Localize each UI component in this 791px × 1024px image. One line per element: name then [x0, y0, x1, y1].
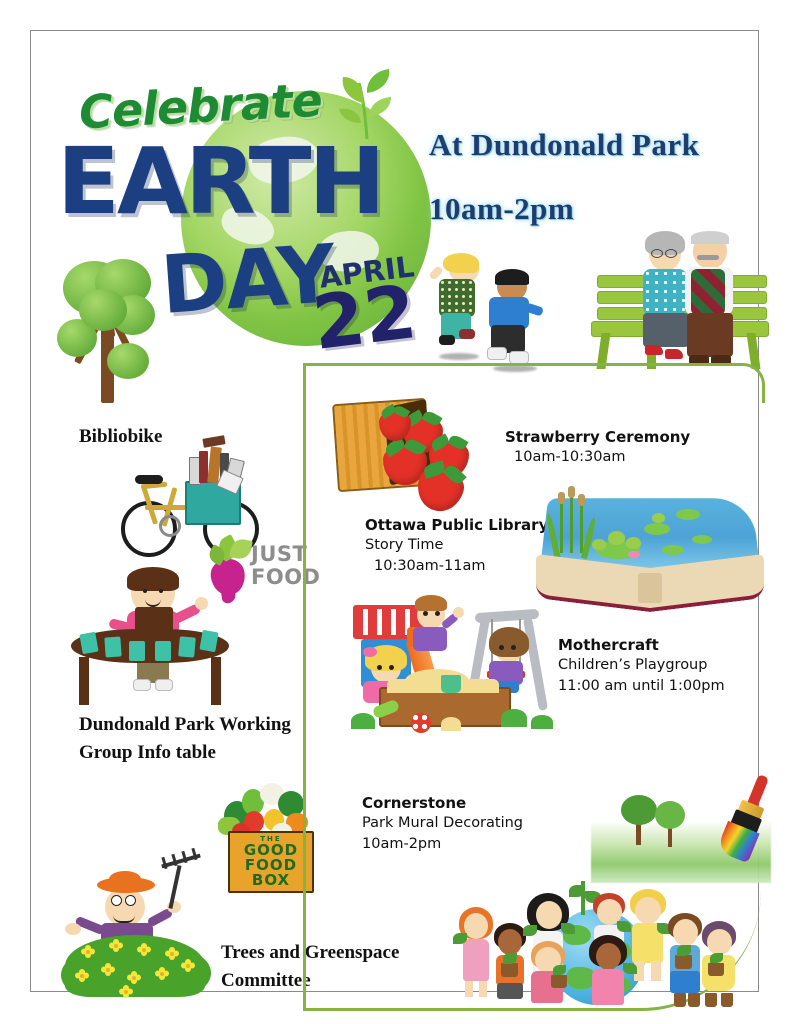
playground-illustration	[349, 591, 564, 743]
event-title: Cornerstone	[362, 793, 523, 813]
working-group-label: Dundonald Park Working Group Info table	[79, 711, 309, 767]
event-detail: Children’s Playgroup	[558, 655, 725, 676]
title-date-22: 22	[308, 269, 421, 367]
event-title: Mothercraft	[558, 635, 725, 655]
title-day: DAY	[158, 235, 336, 325]
good-food-box-container: THE GOOD FOOD BOX	[228, 831, 314, 893]
event-hours: 10am-2pm	[429, 191, 574, 227]
just-food-wordmark: JUST FOOD	[251, 543, 320, 589]
children-with-globe-illustration	[441, 879, 741, 1007]
seniors-on-bench-illustration	[589, 231, 769, 379]
small-tree-icon	[653, 801, 687, 847]
event-detail: Park Mural Decorating	[362, 813, 523, 834]
gardener-illustration	[61, 873, 221, 1003]
event-title: Strawberry Ceremony	[505, 427, 690, 447]
open-book-pond-illustration	[536, 483, 764, 605]
jumping-children-illustration	[431, 253, 566, 373]
event-detail: 11:00 am until 1:00pm	[558, 676, 725, 697]
event-detail: Story Time	[365, 535, 548, 556]
bibliobike-label: Bibliobike	[79, 423, 162, 451]
event-strawberry-ceremony: Strawberry Ceremony 10am-10:30am	[505, 427, 690, 468]
event-detail: 10:30am-11am	[365, 556, 548, 577]
event-cornerstone: Cornerstone Park Mural Decorating 10am-2…	[362, 793, 523, 855]
event-detail: 10am-10:30am	[505, 447, 690, 468]
poster-page: Celebrate EARTH DAY APRIL 22 At Dundonal…	[30, 30, 759, 992]
event-detail: 10am-2pm	[362, 834, 523, 855]
good-food-box-logo: THE GOOD FOOD BOX	[216, 779, 321, 891]
event-location: At Dundonald Park	[429, 127, 699, 163]
info-table-illustration	[69, 571, 249, 711]
event-ottawa-public-library: Ottawa Public Library Story Time 10:30am…	[365, 515, 548, 577]
event-mothercraft: Mothercraft Children’s Playgroup 11:00 a…	[558, 635, 725, 697]
trees-greenspace-label: Trees and Greenspace Committee	[221, 939, 461, 995]
title-earth: EARTH	[57, 137, 383, 227]
tree-illustration	[49, 259, 179, 409]
event-title: Ottawa Public Library	[365, 515, 548, 535]
